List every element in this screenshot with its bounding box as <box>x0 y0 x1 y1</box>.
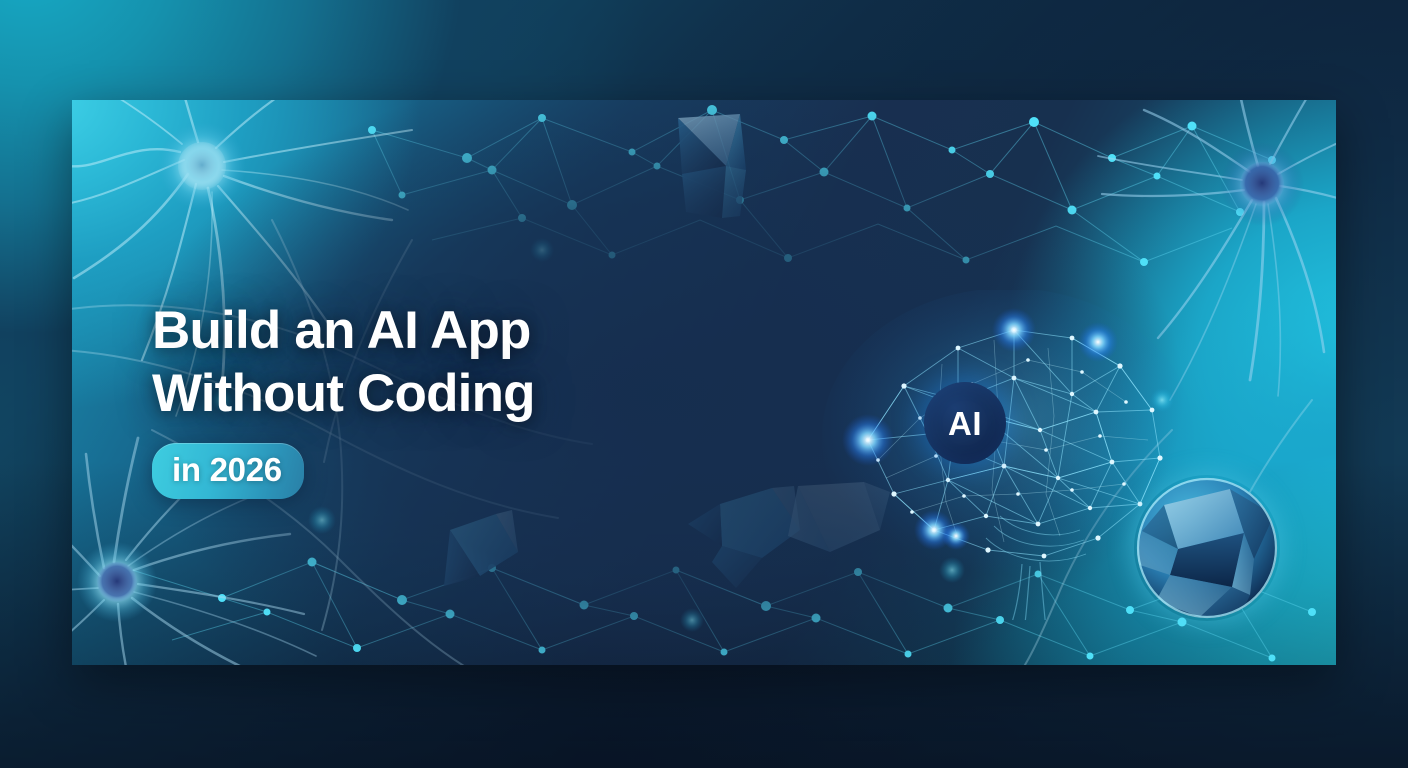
ai-badge: AI <box>924 382 1006 464</box>
backdrop: AI <box>0 0 1408 768</box>
ai-badge-label: AI <box>948 407 982 440</box>
banner-text-block: Build an AI App Without Coding in 2026 <box>152 300 772 499</box>
headline-line-2: Without Coding <box>152 363 772 426</box>
low-poly-sphere <box>1134 475 1280 621</box>
headline-line-1: Build an AI App <box>152 300 772 363</box>
year-badge: in 2026 <box>152 443 304 499</box>
banner-card: AI <box>72 100 1336 665</box>
